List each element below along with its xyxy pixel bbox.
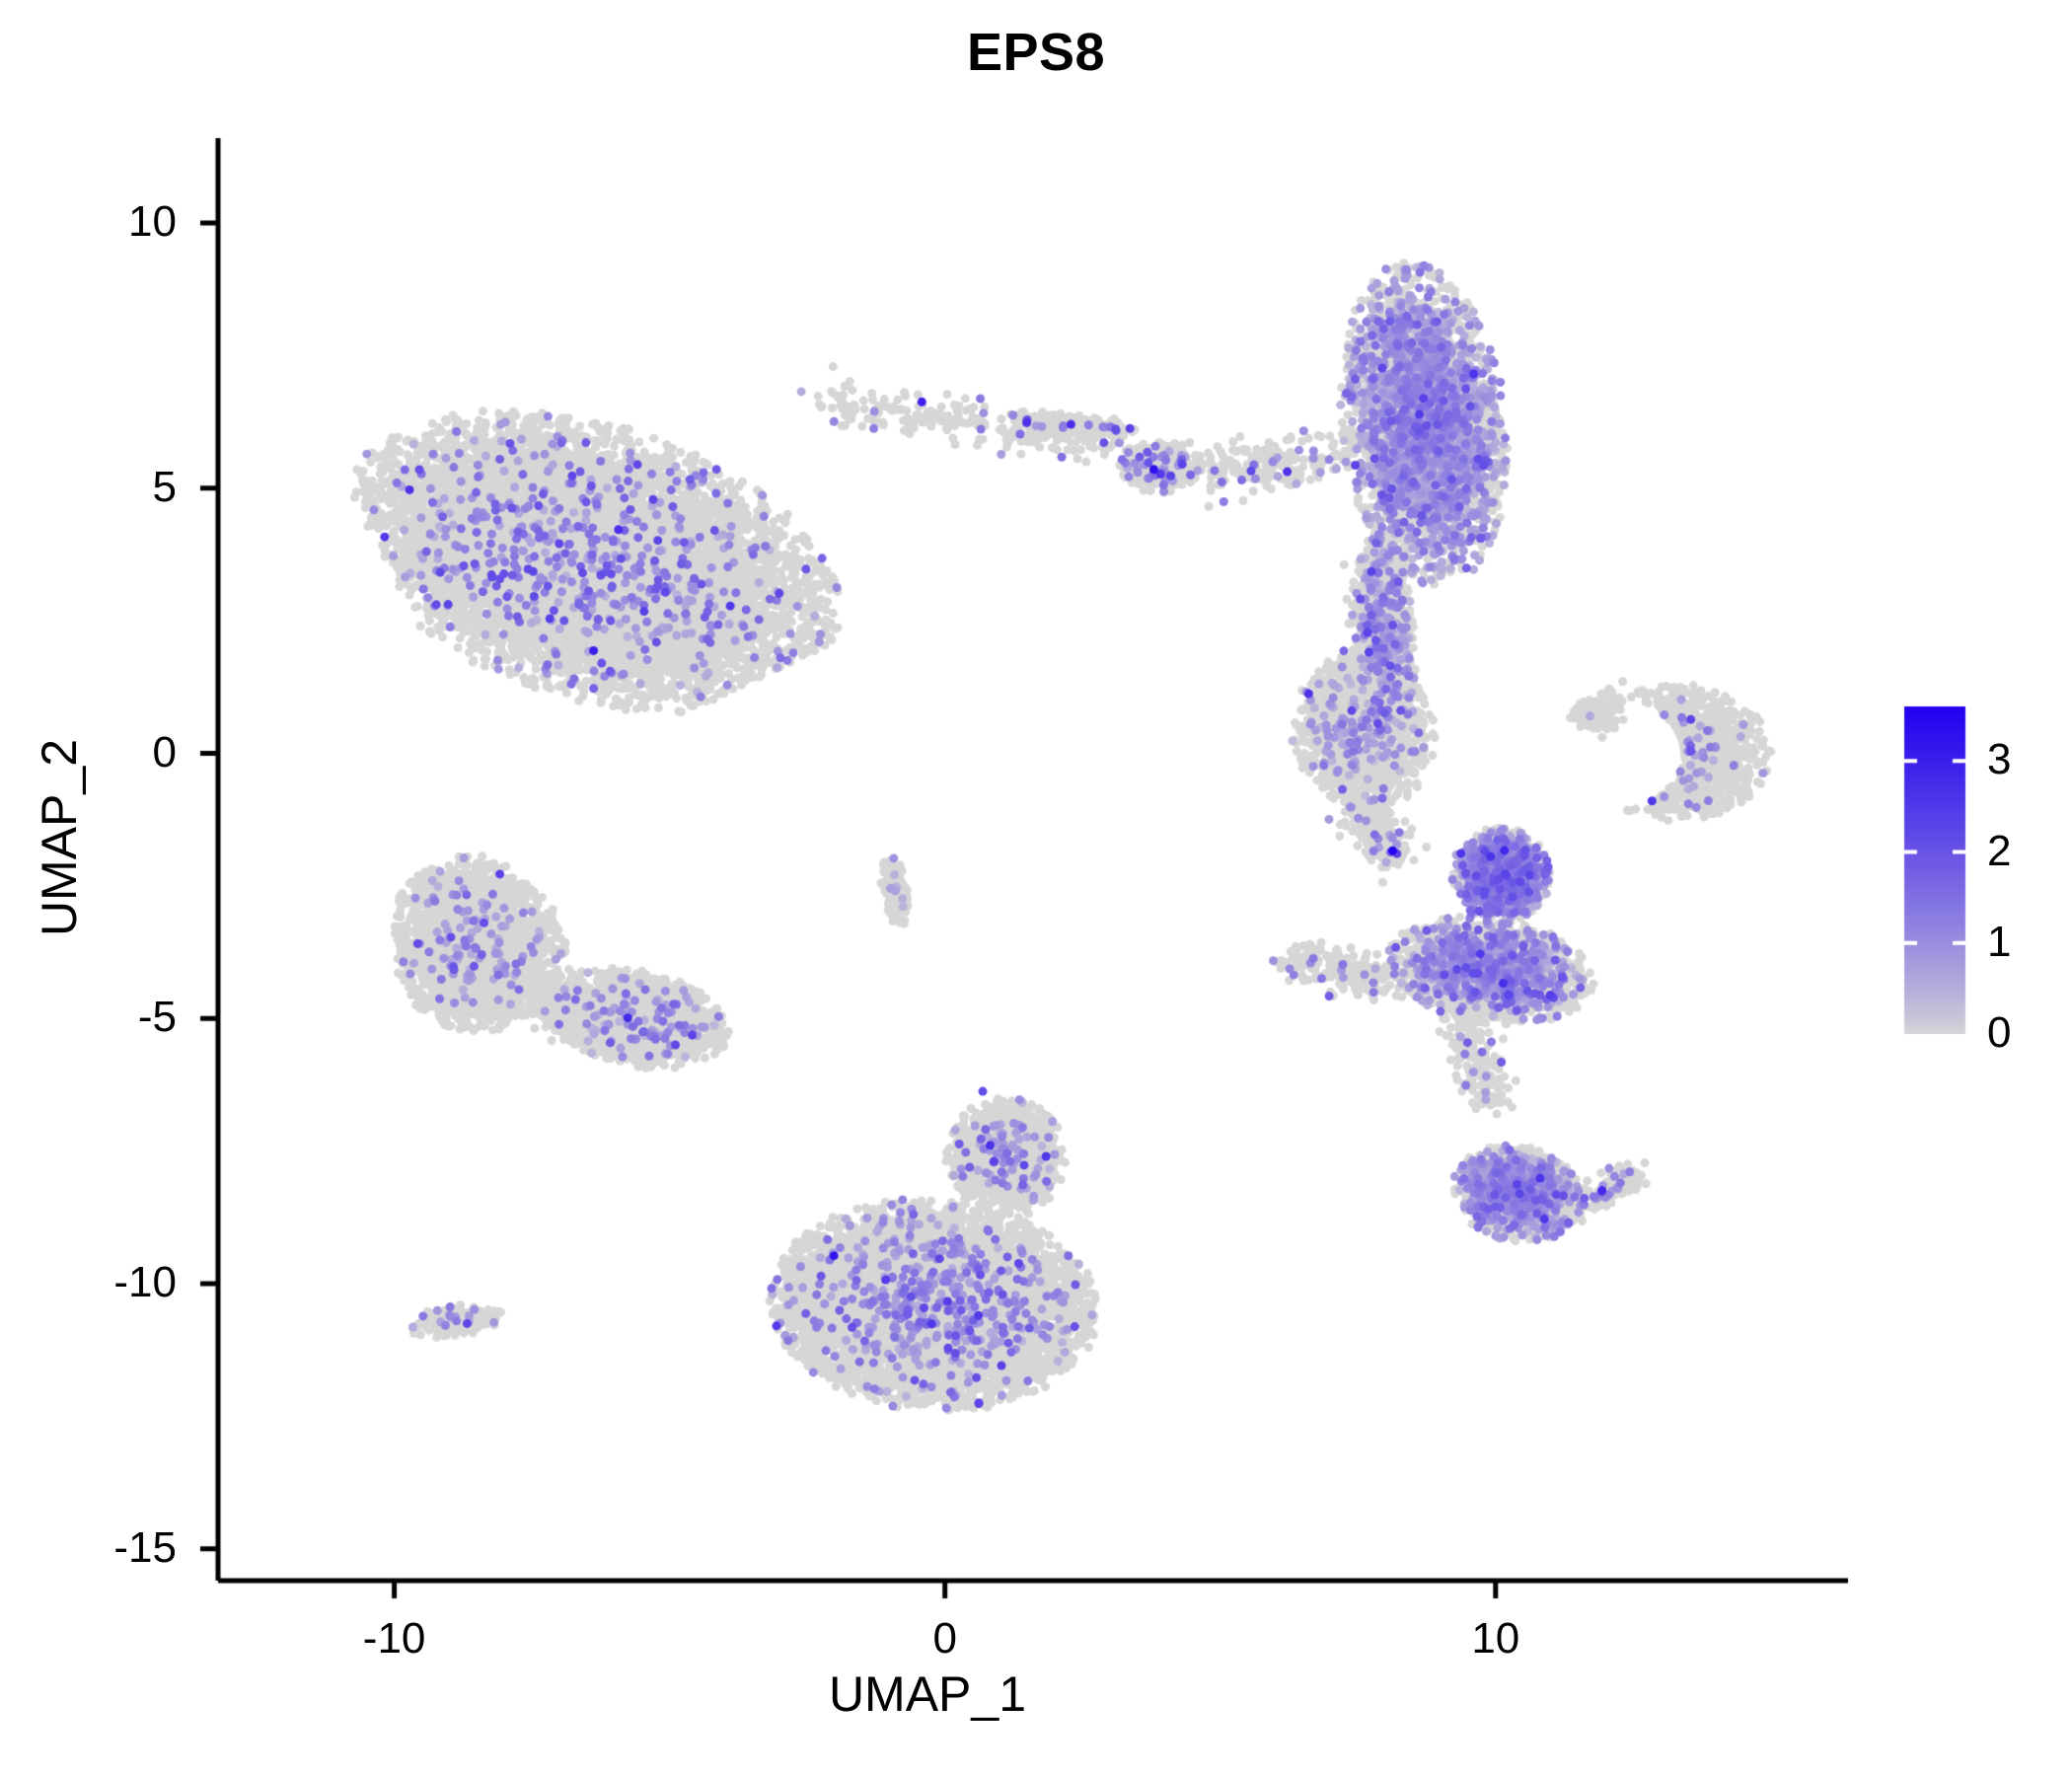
colorbar-tick-label: 3 [1987,735,2072,784]
y-tick-label: 10 [19,197,177,247]
scatter-plot-canvas [0,0,2072,1776]
colorbar-tick-label: 0 [1987,1008,2072,1058]
colorbar-tick-label: 2 [1987,827,2072,876]
x-tick-label: -10 [316,1614,474,1664]
y-axis-label: UMAP_2 [31,443,88,1232]
colorbar-tick-label: 1 [1987,918,2072,967]
x-axis-label: UMAP_1 [0,1665,1855,1723]
y-tick-label: -10 [19,1258,177,1307]
x-tick-label: 10 [1417,1614,1575,1664]
umap-feature-plot: EPS8 -15 -10 -5 0 5 10 -10 0 10 UMAP_1 U… [0,0,2072,1776]
y-tick-label: -15 [19,1523,177,1573]
x-tick-label: 0 [866,1614,1024,1664]
